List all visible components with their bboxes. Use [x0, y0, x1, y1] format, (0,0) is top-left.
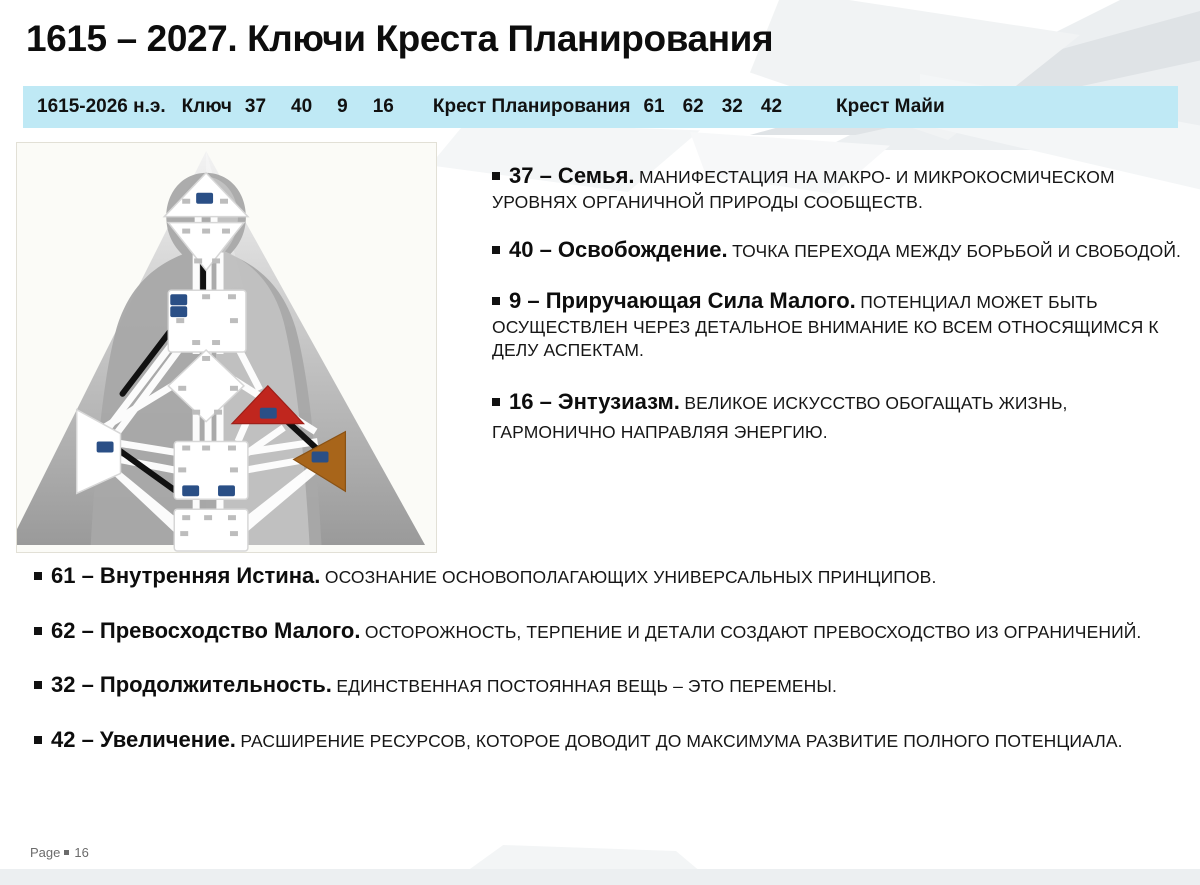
deco-bottom-stripe [0, 869, 1200, 885]
bullet-head-16: 16 – Энтузиазм. [509, 389, 680, 414]
square-bullet-icon [492, 172, 500, 180]
bullet-key-16: 16 – Энтузиазм. ВЕЛИКОЕ ИСКУССТВО ОБОГАЩ… [492, 385, 1182, 446]
key-bar-maya-label: Крест Майи [836, 96, 945, 118]
bullet-head-9: 9 – Приручающая Сила Малого. [509, 288, 856, 313]
bullet-head-40: 40 – Освобождение. [509, 237, 728, 262]
bullet-key-9: 9 – Приручающая Сила Малого. ПОТЕНЦИАЛ М… [492, 287, 1182, 363]
key-bar-key-61: 61 [643, 96, 664, 118]
bullet-body-40: ТОЧКА ПЕРЕХОДА МЕЖДУ БОРЬБОЙ И СВОБОДОЙ. [732, 241, 1181, 261]
square-bullet-icon [492, 246, 500, 254]
bullet-list-right: 37 – Семья. МАНИФЕСТАЦИЯ НА МАКРО- И МИК… [492, 162, 1182, 468]
bullet-key-42: 42 – Увеличение. РАСШИРЕНИЕ РЕСУРСОВ, КО… [34, 726, 1174, 755]
key-bar-key-42: 42 [761, 96, 782, 118]
bullet-key-40: 40 – Освобождение. ТОЧКА ПЕРЕХОДА МЕЖДУ … [492, 236, 1182, 265]
deco-polygon-7 [420, 845, 740, 885]
key-summary-bar: 1615-2026 н.э. Ключ 37 40 9 16 Крест Пла… [23, 86, 1178, 128]
key-bar-key-40: 40 [291, 96, 312, 118]
bullet-list-bottom: 61 – Внутренняя Истина. ОСОЗНАНИЕ ОСНОВО… [34, 562, 1174, 780]
bullet-body-61: ОСОЗНАНИЕ ОСНОВОПОЛАГАЮЩИХ УНИВЕРСАЛЬНЫХ… [325, 567, 937, 587]
bullet-head-61: 61 – Внутренняя Истина. [51, 563, 320, 588]
slide-root: 1615 – 2027. Ключи Креста Планирования 1… [0, 0, 1200, 885]
page-number: 16 [74, 845, 88, 860]
key-bar-key-62: 62 [683, 96, 704, 118]
bullet-key-37: 37 – Семья. МАНИФЕСТАЦИЯ НА МАКРО- И МИК… [492, 162, 1182, 214]
key-bar-key-16: 16 [373, 96, 394, 118]
bullet-body-62: ОСТОРОЖНОСТЬ, ТЕРПЕНИЕ И ДЕТАЛИ СОЗДАЮТ … [365, 622, 1142, 642]
bullet-key-32: 32 – Продолжительность. ЕДИНСТВЕННАЯ ПОС… [34, 671, 1174, 700]
bullet-body-32: ЕДИНСТВЕННАЯ ПОСТОЯННАЯ ВЕЩЬ – ЭТО ПЕРЕМ… [336, 676, 837, 696]
bodygraph-svg [17, 143, 436, 552]
bullet-key-62: 62 – Превосходство Малого. ОСТОРОЖНОСТЬ,… [34, 617, 1174, 646]
square-bullet-icon [492, 398, 500, 406]
square-bullet-icon [34, 736, 42, 744]
key-bar-key-37: 37 [245, 96, 266, 118]
square-bullet-icon [34, 627, 42, 635]
key-bar-cross-label: Крест Планирования [433, 96, 631, 118]
bullet-head-42: 42 – Увеличение. [51, 727, 236, 752]
page-footer-label: Page [30, 845, 60, 860]
footer-square-bullet-icon [64, 850, 69, 855]
bullet-body-42: РАСШИРЕНИЕ РЕСУРСОВ, КОТОРОЕ ДОВОДИТ ДО … [240, 731, 1122, 751]
square-bullet-icon [34, 572, 42, 580]
key-bar-key-32: 32 [722, 96, 743, 118]
bullet-head-32: 32 – Продолжительность. [51, 672, 332, 697]
bullet-key-61: 61 – Внутренняя Истина. ОСОЗНАНИЕ ОСНОВО… [34, 562, 1174, 591]
square-bullet-icon [34, 681, 42, 689]
bullet-head-37: 37 – Семья. [509, 163, 635, 188]
key-bar-key-9: 9 [337, 96, 348, 118]
square-bullet-icon [492, 297, 500, 305]
bodygraph-figure [16, 142, 437, 553]
page-footer: Page16 [30, 845, 89, 860]
key-bar-era: 1615-2026 н.э. [37, 96, 166, 118]
key-bar-key-word: Ключ [182, 96, 232, 118]
page-title: 1615 – 2027. Ключи Креста Планирования [26, 18, 773, 60]
bullet-head-62: 62 – Превосходство Малого. [51, 618, 360, 643]
